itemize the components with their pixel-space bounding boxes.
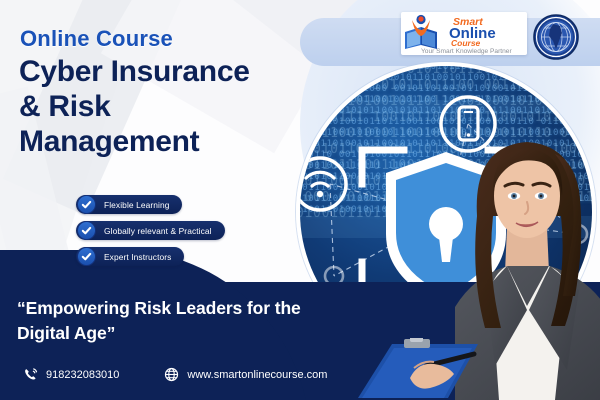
- feature-list: Flexible Learning Globally relevant & Pr…: [76, 195, 225, 273]
- contact-phone[interactable]: 918232083010: [22, 366, 119, 383]
- contact-website[interactable]: www.smartonlinecourse.com: [163, 366, 327, 383]
- wifi-signal-node-icon: [300, 158, 346, 210]
- feature-label: Expert Instructors: [104, 252, 171, 262]
- globe-india-emblem-icon: [533, 14, 579, 60]
- check-icon: [77, 221, 96, 240]
- logo-tagline: Your Smart Knowledge Partner: [421, 48, 512, 55]
- contact-footer: 918232083010 www.smartonlinecourse.com: [22, 366, 327, 383]
- feature-label: Flexible Learning: [104, 200, 169, 210]
- phone-icon: [22, 366, 39, 383]
- logo-word-course: Course: [451, 38, 481, 48]
- tagline-quote: “Empowering Risk Leaders for the Digital…: [17, 296, 317, 346]
- kicker-text: Online Course: [20, 26, 173, 52]
- brand-logo[interactable]: Smart Online Course Your Smart Knowledge…: [401, 12, 527, 55]
- check-icon: [77, 247, 96, 266]
- feature-label: Globally relevant & Practical: [104, 226, 212, 236]
- phone-number: 918232083010: [46, 369, 119, 381]
- feature-item-expert-instructors[interactable]: Expert Instructors: [76, 247, 184, 266]
- feature-item-flexible-learning[interactable]: Flexible Learning: [76, 195, 182, 214]
- clipboard-and-pen: [352, 338, 502, 400]
- feature-item-globally-relevant[interactable]: Globally relevant & Practical: [76, 221, 225, 240]
- page-title: Cyber Insurance & Risk Management: [19, 55, 309, 159]
- website-url: www.smartonlinecourse.com: [187, 369, 327, 381]
- book-person-icon: [405, 15, 437, 49]
- promo-banner: 0100110011101001011010010110111001101001…: [0, 0, 600, 400]
- title-line-1: Cyber Insurance: [19, 55, 309, 90]
- check-icon: [77, 195, 96, 214]
- title-line-2: & Risk: [19, 90, 309, 125]
- globe-icon: [163, 366, 180, 383]
- title-line-3: Management: [19, 125, 309, 160]
